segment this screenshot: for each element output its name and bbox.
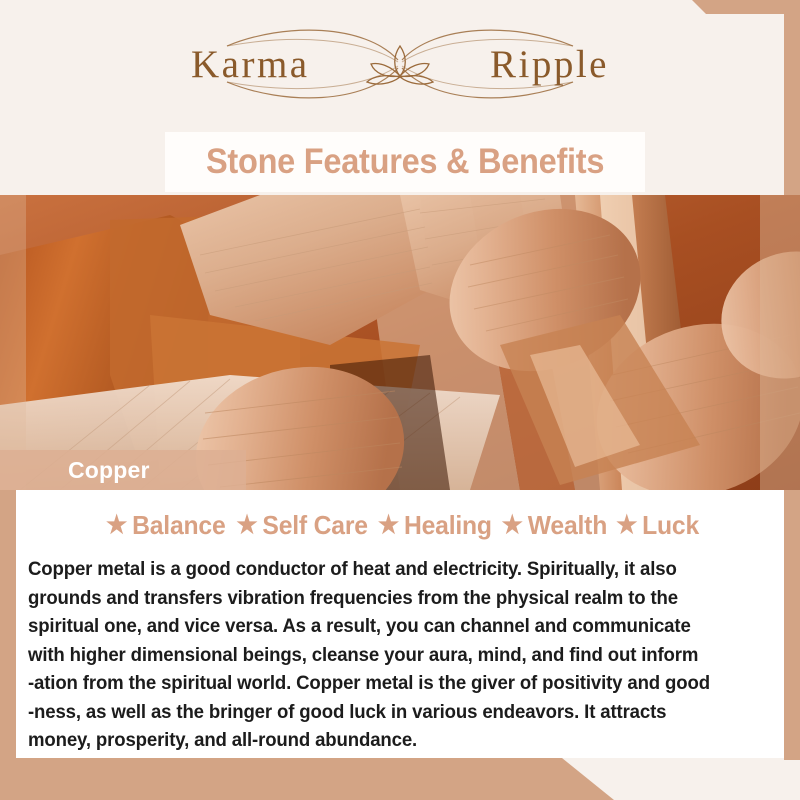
benefit-label: Luck <box>642 510 699 541</box>
section-title-band: Stone Features & Benefits <box>165 132 645 192</box>
star-icon: ★ <box>378 513 399 538</box>
star-icon: ★ <box>616 513 637 538</box>
benefit-item-1: ★ Self Care <box>232 510 367 541</box>
benefit-label: Healing <box>404 510 492 541</box>
description-line: money, prosperity, and all-round abundan… <box>28 727 748 756</box>
star-icon: ★ <box>106 513 127 538</box>
star-icon: ★ <box>502 513 523 538</box>
benefits-list: ★ Balance ★ Self Care ★ Healing ★ Wealth… <box>16 500 784 550</box>
description-line: -ness, as well as the bringer of good lu… <box>28 699 748 728</box>
benefit-item-3: ★ Wealth <box>498 510 607 541</box>
star-icon: ★ <box>236 513 257 538</box>
description-line: Copper metal is a good conductor of heat… <box>28 556 748 585</box>
brand-logo: Karma Ripple <box>0 0 800 128</box>
benefit-item-2: ★ Healing <box>374 510 492 541</box>
page-title: Stone Features & Benefits <box>206 142 604 182</box>
description-line: grounds and transfers vibration frequenc… <box>28 585 748 614</box>
infographic-card: Karma Ripple Stone Features & Benefits <box>0 0 800 800</box>
benefit-item-0: ★ Balance <box>102 510 225 541</box>
frame-bottom-border <box>0 758 640 800</box>
description-line: with higher dimensional beings, cleanse … <box>28 642 748 671</box>
photo-caption: Copper <box>68 457 150 484</box>
copper-bars-illustration <box>0 195 800 490</box>
benefit-label: Self Care <box>262 510 367 541</box>
brand-word-left: Karma <box>191 45 310 84</box>
product-photo <box>0 195 800 490</box>
benefit-label: Wealth <box>528 510 607 541</box>
content-panel: ★ Balance ★ Self Care ★ Healing ★ Wealth… <box>16 490 784 758</box>
description-line: -ation from the spiritual world. Copper … <box>28 670 748 699</box>
brand-word-right: Ripple <box>490 45 609 84</box>
description-text: Copper metal is a good conductor of heat… <box>28 556 748 756</box>
photo-caption-band: Copper <box>0 450 246 490</box>
benefit-item-4: ★ Luck <box>612 510 699 541</box>
benefit-label: Balance <box>132 510 225 541</box>
description-line: spiritual one, and vice versa. As a resu… <box>28 613 748 642</box>
